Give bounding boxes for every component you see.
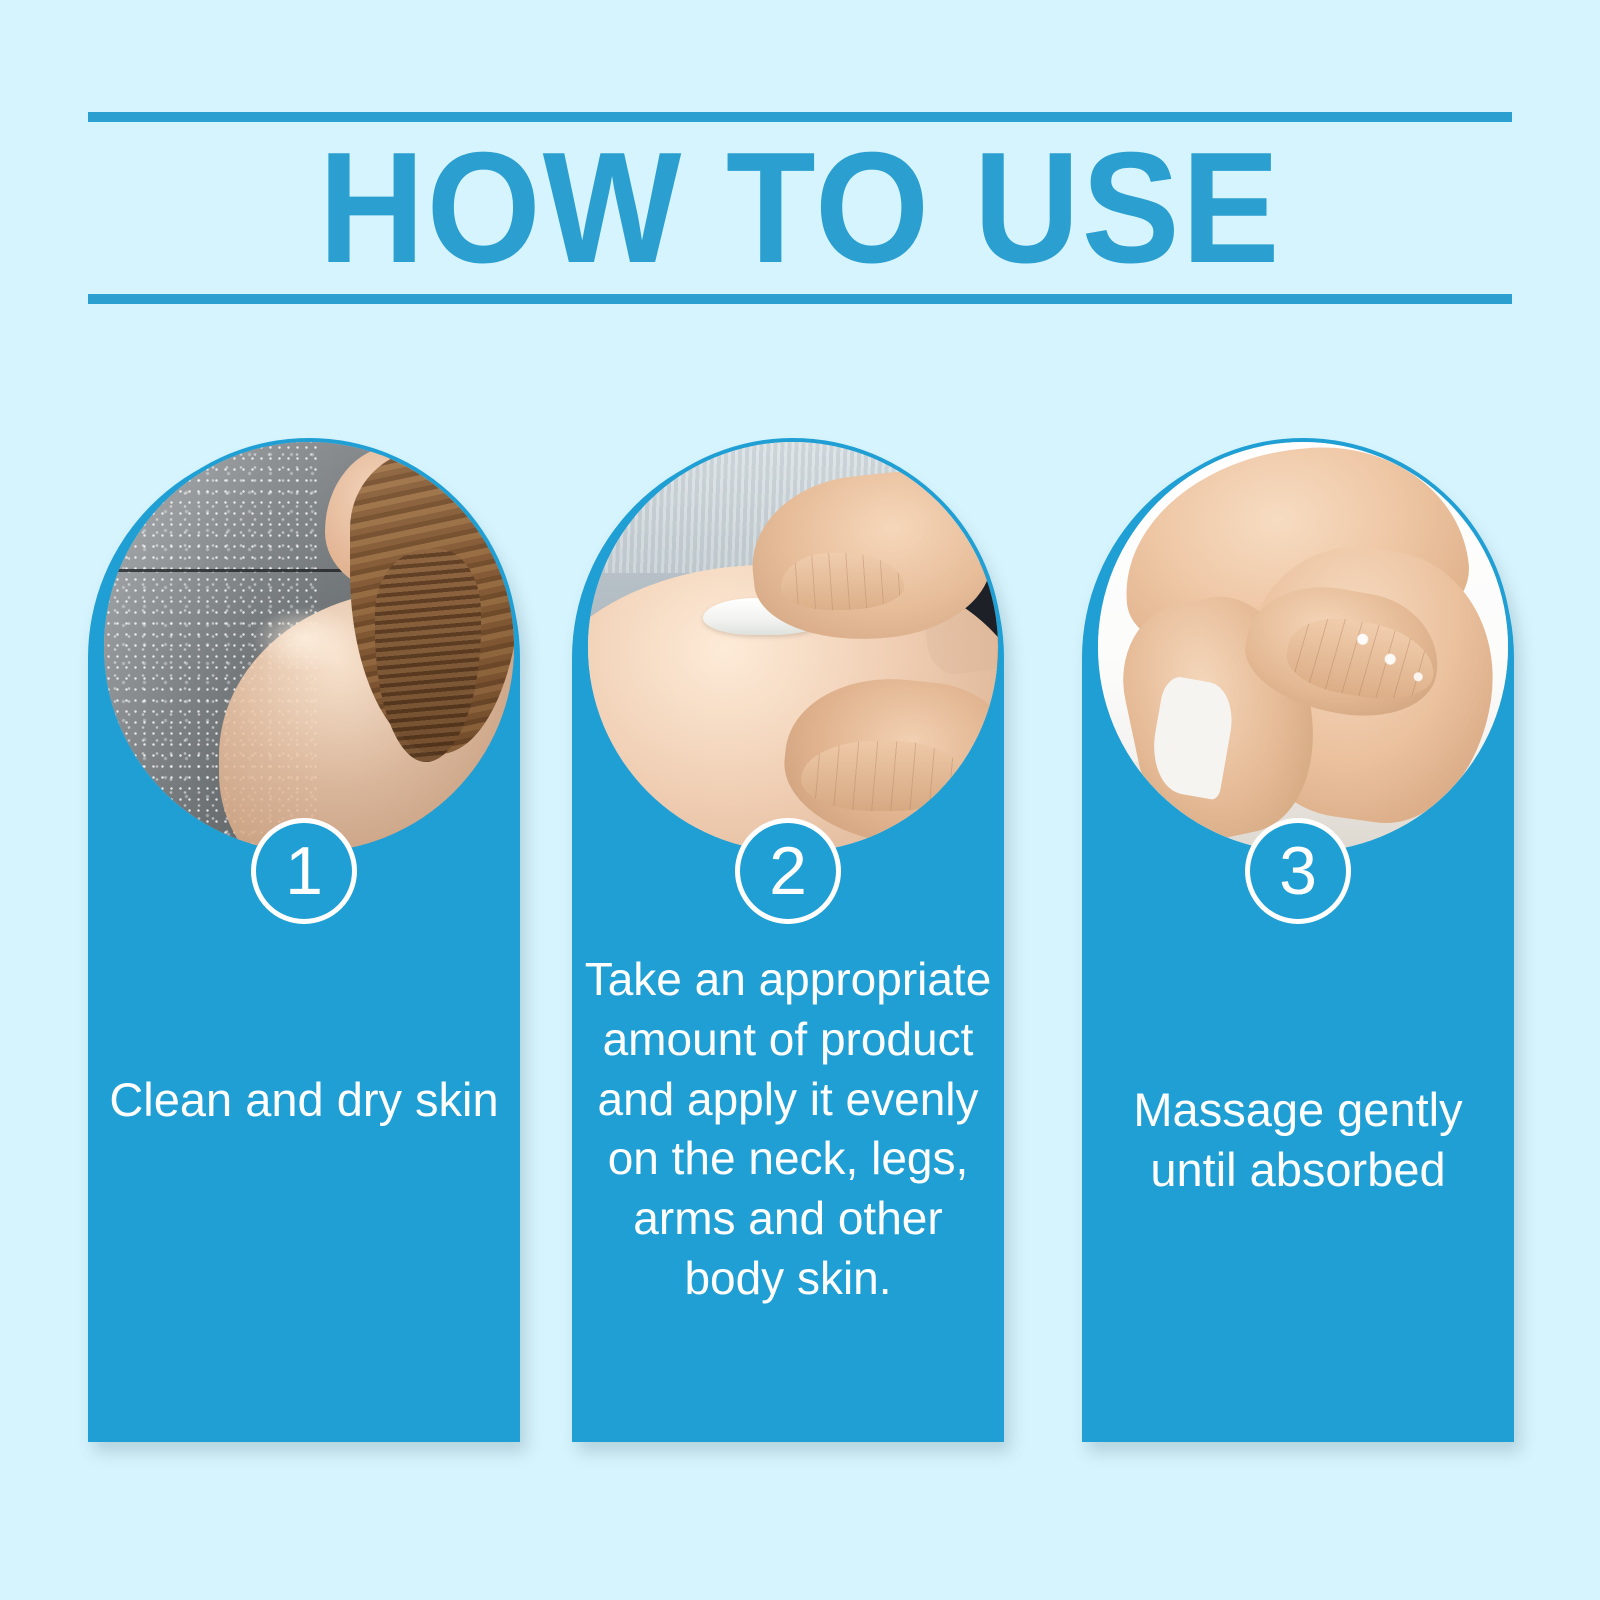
title-rule-bottom	[88, 294, 1512, 304]
step-photo-2	[588, 442, 998, 852]
step-number-badge-3: 3	[1245, 818, 1351, 924]
step-number-badge-2: 2	[735, 818, 841, 924]
page-title: HOW TO USE	[138, 120, 1462, 296]
step-card-3: 3 Massage gently until absorbed	[1082, 430, 1514, 1442]
step-caption-2: Take an appropriate amount of product an…	[578, 950, 998, 1309]
header: HOW TO USE	[88, 112, 1512, 304]
step-card-2: 2 Take an appropriate amount of product …	[572, 430, 1004, 1442]
step-photo-3	[1098, 442, 1508, 852]
step-photo-1	[104, 442, 514, 852]
step-card-1: 1 Clean and dry skin	[88, 430, 520, 1442]
step-number-badge-1: 1	[251, 818, 357, 924]
step-caption-1: Clean and dry skin	[94, 1070, 514, 1130]
step-caption-3: Massage gently until absorbed	[1088, 1080, 1508, 1200]
steps-row: 1 Clean and dry skin 2 Take an appropria…	[0, 430, 1600, 1490]
